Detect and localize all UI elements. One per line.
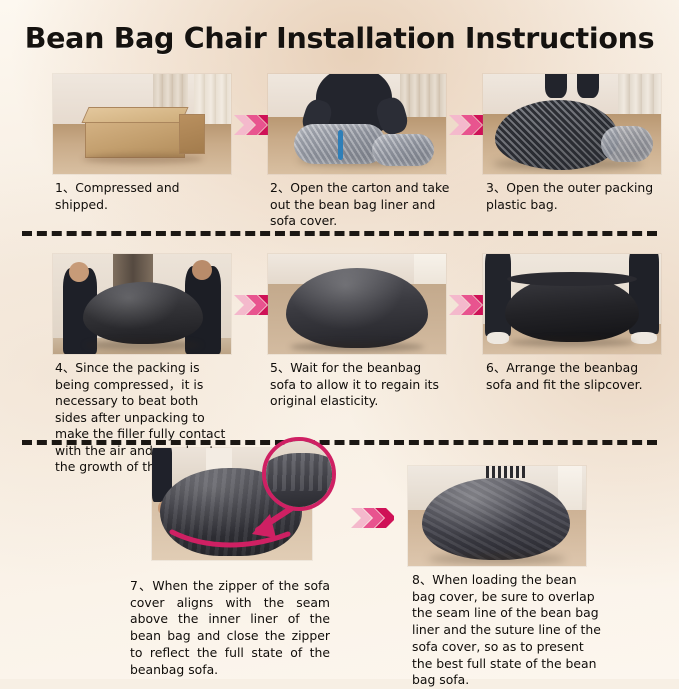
step-4-image (53, 254, 231, 354)
step-3-caption: 3、Open the outer packing plastic bag. (486, 180, 664, 213)
step-8-image (408, 466, 586, 566)
divider-row-1 (22, 231, 657, 236)
step-2-image (268, 74, 446, 174)
step-5-caption: 5、Wait for the beanbag sofa to allow it … (270, 360, 450, 410)
step-6-image (483, 254, 661, 354)
step-6-caption: 6、Arrange the beanbag sofa and fit the s… (486, 360, 664, 393)
step-2-caption: 2、Open the carton and take out the bean … (270, 180, 450, 230)
instruction-poster: Bean Bag Chair Installation Instructions… (0, 0, 679, 679)
step-1-caption: 1、Compressed and shipped. (55, 180, 230, 213)
page-title: Bean Bag Chair Installation Instructions (0, 22, 679, 55)
step-5-image (268, 254, 446, 354)
step-1-image (53, 74, 231, 174)
step-8-caption: 8、When loading the bean bag cover, be su… (412, 572, 602, 689)
divider-row-2 (22, 440, 657, 445)
arrow-step-7-to-8 (350, 505, 394, 531)
zipper-detail-callout (262, 437, 336, 511)
step-7-caption: 7、When the zipper of the sofa cover alig… (130, 578, 330, 678)
step-3-image (483, 74, 661, 174)
